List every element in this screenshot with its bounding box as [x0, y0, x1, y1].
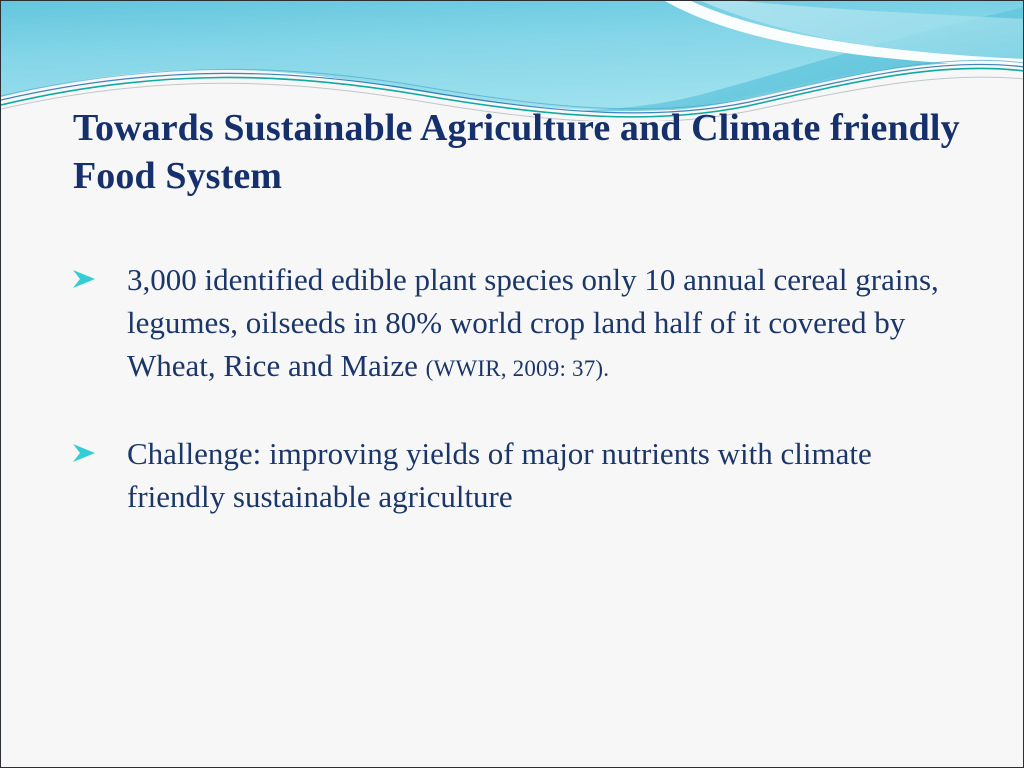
slide-body-content: 3,000 identified edible plant species on… — [71, 259, 971, 519]
bullet-text: 3,000 identified edible plant species on… — [127, 259, 971, 387]
arrowhead-bullet-icon — [71, 259, 127, 291]
presentation-slide: Towards Sustainable Agriculture and Clim… — [0, 0, 1024, 768]
slide-title-block: Towards Sustainable Agriculture and Clim… — [73, 105, 963, 201]
bullet-citation: (WWIR, 2009: 37). — [426, 356, 610, 381]
bullet-item: 3,000 identified edible plant species on… — [71, 259, 971, 387]
header-wave-decoration — [1, 1, 1024, 121]
bullet-item: Challenge: improving yields of major nut… — [71, 433, 971, 519]
bullet-text: Challenge: improving yields of major nut… — [127, 433, 971, 519]
bullet-main-text: Challenge: improving yields of major nut… — [127, 436, 872, 514]
arrowhead-bullet-icon — [71, 433, 127, 465]
page-title: Towards Sustainable Agriculture and Clim… — [73, 105, 963, 201]
